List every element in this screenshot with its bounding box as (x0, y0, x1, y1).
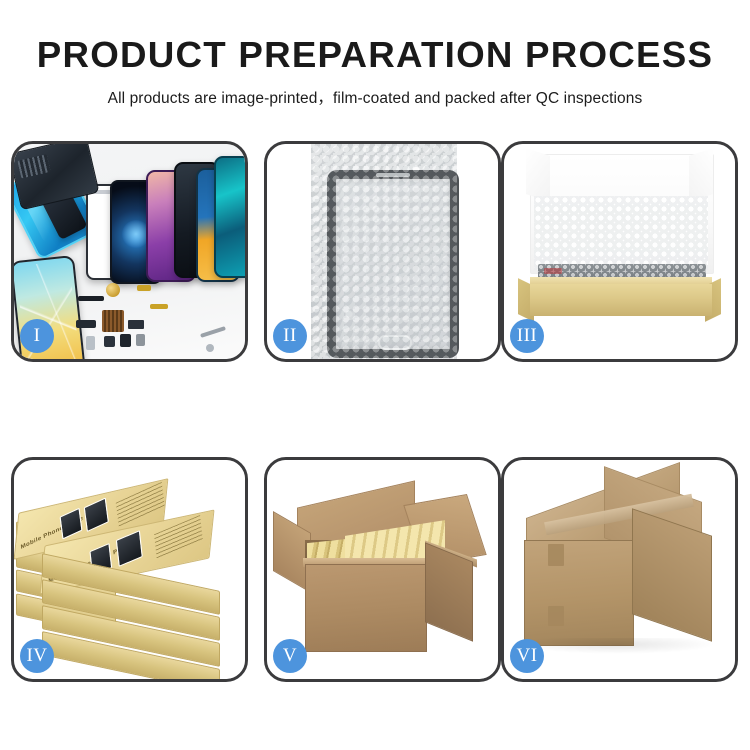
step-badge-3: III (510, 319, 544, 353)
phone-screen-frame-icon (327, 170, 459, 358)
step-badge-4: IV (20, 639, 54, 673)
sim-tray-part-icon (86, 336, 95, 350)
carton-front-face (305, 564, 427, 652)
step-badge-2: II (273, 319, 307, 353)
ribbon-part-icon (76, 320, 96, 328)
box-spec-lines-2 (154, 515, 203, 559)
step-panel-6[interactable]: VI (501, 457, 738, 682)
speaker-coil-part-icon (106, 283, 120, 297)
carton-tab-lower (548, 606, 564, 626)
box-window-4 (116, 530, 143, 567)
carton-shadow (520, 638, 716, 654)
product-preparation-infographic: PRODUCT PREPARATION PROCESS All products… (0, 0, 750, 750)
box-window-1 (60, 508, 83, 540)
bubble-wrap-sheet (311, 144, 457, 359)
white-box-left-flap (526, 148, 550, 202)
carton-tab-upper (548, 544, 564, 566)
step-panel-2[interactable]: II (264, 141, 501, 362)
earpiece-slot-icon (376, 173, 410, 177)
step-badge-6: VI (510, 639, 544, 673)
small-screw-icon (206, 344, 214, 352)
screw-part-icon (136, 334, 145, 346)
foam-padding (534, 196, 708, 270)
kraft-box-front (530, 284, 712, 316)
gold-connector-part-icon (137, 285, 151, 291)
box-window-2 (84, 497, 109, 532)
step-panel-3[interactable]: III (501, 141, 738, 362)
tweezers-tool-icon (200, 326, 226, 338)
flex-cable-part-icon (78, 296, 104, 301)
step-badge-1: I (20, 319, 54, 353)
step-panel-5[interactable]: V (264, 457, 501, 682)
sealed-carton-front-face (524, 540, 634, 646)
vibrator-part-icon (120, 334, 131, 347)
ic-chip-part-icon (104, 336, 115, 347)
teal-wave-phone-icon (214, 156, 245, 278)
connector-grid-part-icon (102, 310, 124, 332)
home-button-icon (378, 335, 412, 350)
gold-flex-part-icon (150, 304, 168, 309)
steps-grid: I II (0, 0, 750, 750)
step-panel-1[interactable]: I (11, 141, 248, 362)
white-box-right-flap (689, 148, 713, 202)
step-panel-4[interactable]: Mobile Phone Spare Parts Mobile Phone Sp… (11, 457, 248, 682)
camera-module-part-icon (128, 320, 144, 329)
step-badge-5: V (273, 639, 307, 673)
